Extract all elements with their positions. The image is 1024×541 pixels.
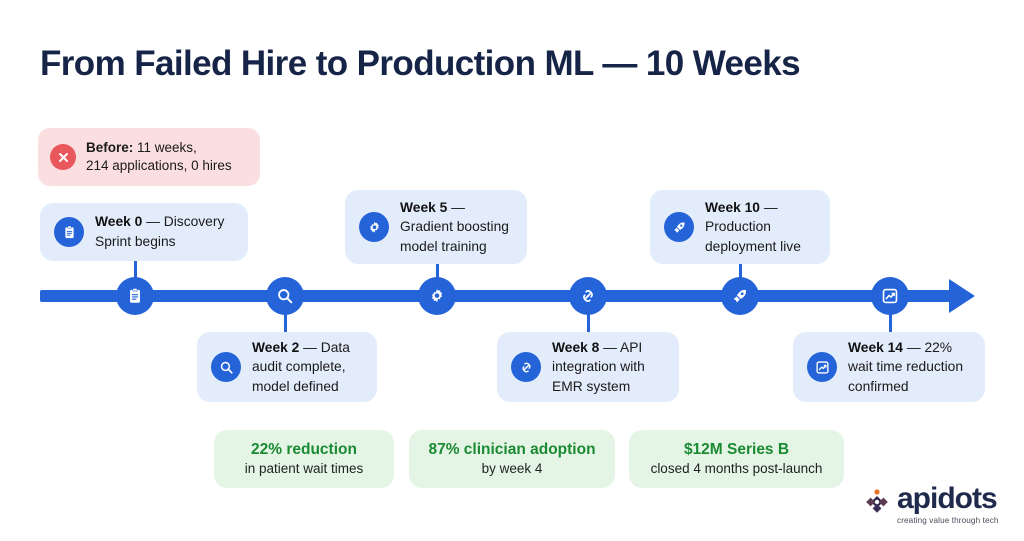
- milestone-card-week-10[interactable]: Week 10 — Production deployment live: [650, 190, 830, 264]
- milestone-text-week-0: Week 0 — Discovery Sprint begins: [95, 212, 224, 251]
- timeline-node-week-14[interactable]: [871, 277, 909, 315]
- milestone-label-week-14: Week 14: [848, 340, 903, 355]
- link-icon: [511, 352, 541, 382]
- stat-card-adoption: 87% clinician adoption by week 4: [409, 430, 615, 488]
- timeline-node-week-8[interactable]: [569, 277, 607, 315]
- rocket-icon: [731, 287, 749, 305]
- milestone-sub-week-8: — API: [599, 340, 642, 355]
- milestone-text-week-5: Week 5 — Gradient boosting model trainin…: [400, 198, 509, 257]
- milestone-line2-week-5: Gradient boosting: [400, 219, 509, 234]
- chart-up-icon: [881, 287, 899, 305]
- milestone-sub-week-14: — 22%: [903, 340, 952, 355]
- milestone-line2-week-0: Sprint begins: [95, 234, 176, 249]
- milestone-line2-week-2: audit complete,: [252, 359, 346, 374]
- apidots-diamond-logo-icon: [862, 488, 892, 518]
- stat-headline-1: 87% clinician adoption: [428, 440, 595, 460]
- milestone-line3-week-10: deployment live: [705, 239, 801, 254]
- milestone-text-week-10: Week 10 — Production deployment live: [705, 198, 801, 257]
- milestone-card-week-8[interactable]: Week 8 — API integration with EMR system: [497, 332, 679, 402]
- milestone-card-week-14[interactable]: Week 14 — 22% wait time reduction confir…: [793, 332, 985, 402]
- before-line2: 214 applications, 0 hires: [86, 158, 232, 173]
- milestone-sub-week-5: —: [447, 200, 465, 215]
- gear-icon: [359, 212, 389, 242]
- milestone-label-week-5: Week 5: [400, 200, 447, 215]
- timeline-axis: [40, 290, 965, 302]
- timeline-arrow-head-icon: [949, 279, 975, 313]
- before-label: Before:: [86, 140, 133, 155]
- chart-up-icon: [807, 352, 837, 382]
- milestone-label-week-10: Week 10: [705, 200, 760, 215]
- milestone-sub-week-2: — Data: [299, 340, 350, 355]
- page-title: From Failed Hire to Production ML — 10 W…: [40, 44, 800, 84]
- stat-card-series-b: $12M Series B closed 4 months post-launc…: [629, 430, 844, 488]
- clipboard-icon: [126, 287, 144, 305]
- infographic-canvas: From Failed Hire to Production ML — 10 W…: [0, 0, 1024, 541]
- timeline-node-week-2[interactable]: [266, 277, 304, 315]
- gear-icon: [428, 287, 446, 305]
- stat-headline-0: 22% reduction: [251, 440, 357, 460]
- apidots-logo[interactable]: apidots creating value through tech: [862, 484, 998, 525]
- milestone-label-week-2: Week 2: [252, 340, 299, 355]
- timeline-node-week-10[interactable]: [721, 277, 759, 315]
- timeline-node-week-5[interactable]: [418, 277, 456, 315]
- link-icon: [579, 287, 597, 305]
- milestone-label-week-0: Week 0: [95, 214, 142, 229]
- milestone-label-week-8: Week 8: [552, 340, 599, 355]
- milestone-text-week-2: Week 2 — Data audit complete, model defi…: [252, 338, 350, 397]
- milestone-line2-week-8: integration with: [552, 359, 645, 374]
- milestone-line2-week-10: Production: [705, 219, 771, 234]
- milestone-sub-week-10: —: [760, 200, 778, 215]
- stat-headline-2: $12M Series B: [684, 440, 789, 460]
- milestone-line2-week-14: wait time reduction: [848, 359, 963, 374]
- search-icon: [211, 352, 241, 382]
- rocket-icon: [664, 212, 694, 242]
- search-icon: [276, 287, 294, 305]
- milestone-card-week-2[interactable]: Week 2 — Data audit complete, model defi…: [197, 332, 377, 402]
- milestone-line3-week-14: confirmed: [848, 379, 909, 394]
- x-circle-icon: [50, 144, 76, 170]
- milestone-line3-week-5: model training: [400, 239, 487, 254]
- stat-card-wait-times: 22% reduction in patient wait times: [214, 430, 394, 488]
- before-line1: 11 weeks,: [133, 140, 197, 155]
- stat-sub-0: in patient wait times: [245, 460, 364, 478]
- before-badge: Before: 11 weeks, 214 applications, 0 hi…: [38, 128, 260, 186]
- stat-sub-2: closed 4 months post-launch: [651, 460, 823, 478]
- milestone-card-week-5[interactable]: Week 5 — Gradient boosting model trainin…: [345, 190, 527, 264]
- logo-word: apidots: [897, 484, 998, 514]
- milestone-line3-week-2: model defined: [252, 379, 339, 394]
- milestone-card-week-0[interactable]: Week 0 — Discovery Sprint begins: [40, 203, 248, 261]
- milestone-sub-week-0: — Discovery: [142, 214, 224, 229]
- apidots-wordmark: apidots creating value through tech: [897, 484, 998, 525]
- clipboard-icon: [54, 217, 84, 247]
- milestone-text-week-14: Week 14 — 22% wait time reduction confir…: [848, 338, 963, 397]
- milestone-text-week-8: Week 8 — API integration with EMR system: [552, 338, 645, 397]
- milestone-line3-week-8: EMR system: [552, 379, 630, 394]
- stat-sub-1: by week 4: [482, 460, 543, 478]
- before-badge-text: Before: 11 weeks, 214 applications, 0 hi…: [86, 139, 232, 175]
- timeline-node-week-0[interactable]: [116, 277, 154, 315]
- logo-tagline: creating value through tech: [897, 516, 998, 525]
